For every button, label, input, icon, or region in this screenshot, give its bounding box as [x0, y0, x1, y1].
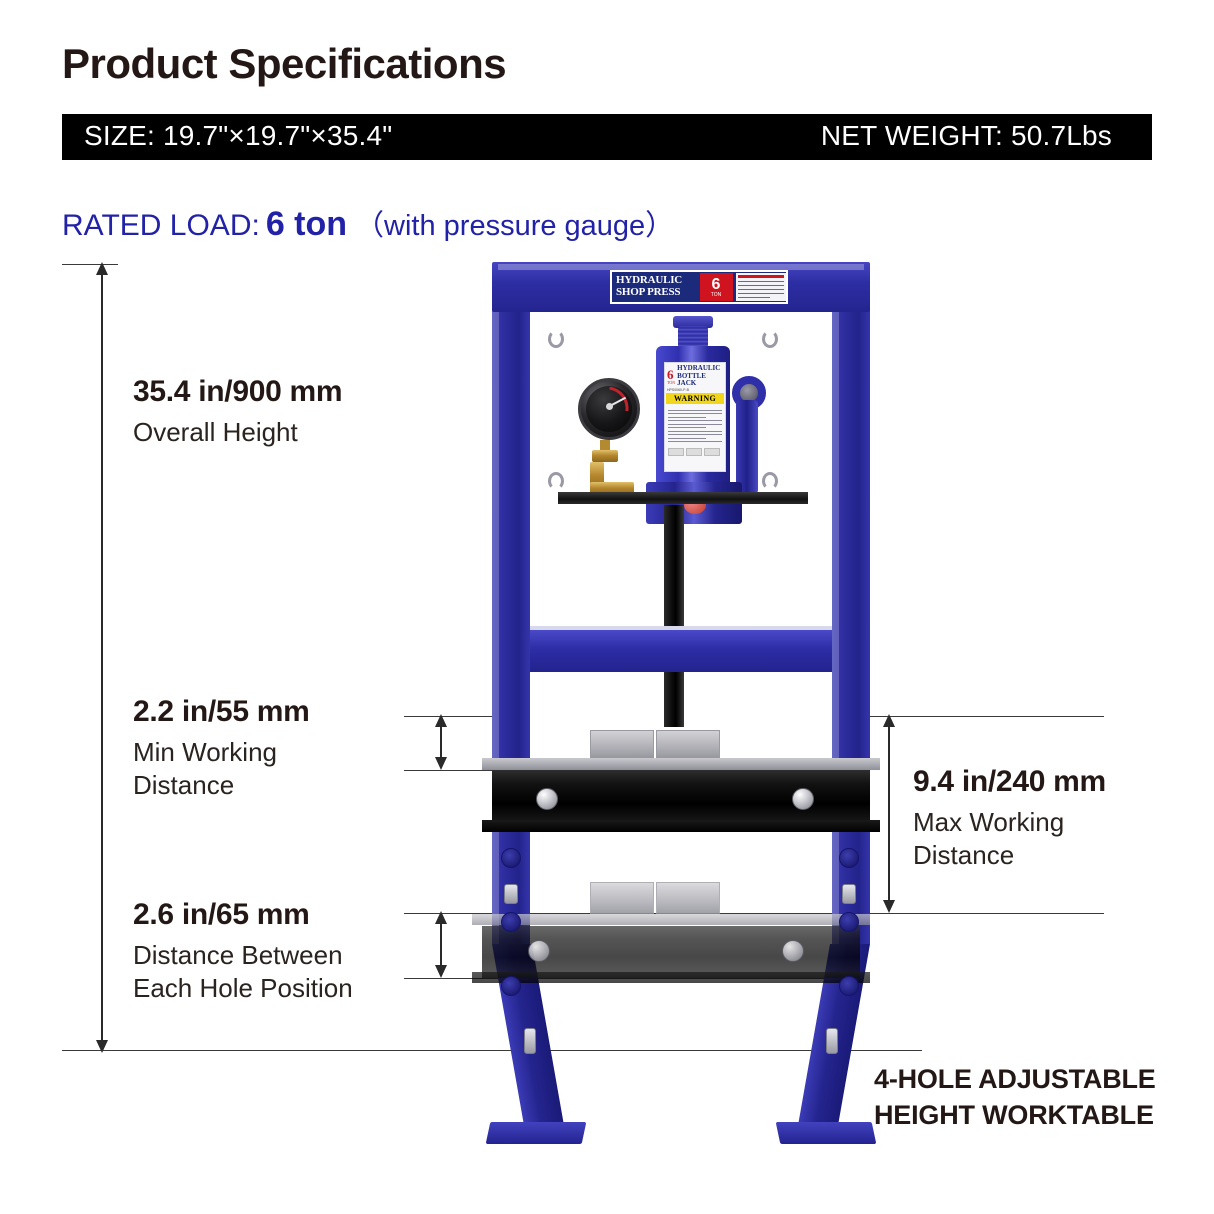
net-weight-label: NET WEIGHT: 50.7Lbs: [821, 120, 1112, 152]
brass-fitting-upper: [592, 450, 618, 462]
worktable-bolt-lower-right: [782, 940, 804, 962]
adjust-hole-left-3: [501, 976, 521, 996]
dimension-min-working-distance: 2.2 in/55 mm Min Working Distance: [133, 695, 310, 802]
jack-mounting-plate: [558, 492, 808, 504]
sticker-tonnage: 6: [712, 277, 721, 293]
return-spring-right: [762, 346, 778, 474]
adjust-hole-right-2: [839, 912, 859, 932]
sticker-text-line: [738, 281, 784, 282]
bottle-jack-label: 6 TON HYDRAULIC BOTTLE JACK HPS0060-P-B …: [664, 362, 726, 472]
overall-height-arrow-up: [96, 262, 108, 275]
dimension-value: 9.4 in/240 mm: [913, 765, 1106, 800]
lower-worktable-bottom-flange: [472, 972, 870, 983]
leg-bolt-left: [524, 1028, 536, 1054]
spring-hook-bottom-icon: [548, 472, 564, 490]
sticker-text-line: [738, 289, 784, 290]
v-block-right-lower: [656, 882, 720, 914]
right-foot: [776, 1122, 877, 1144]
spring-hook-top-icon: [548, 330, 564, 348]
locking-pin-left: [504, 884, 518, 904]
overall-height-arrow-line: [101, 272, 103, 1044]
adjust-hole-left-1: [501, 848, 521, 868]
caption-line-1: Distance Between: [133, 939, 353, 972]
certification-mark-icon: [668, 448, 684, 456]
left-foot: [486, 1122, 587, 1144]
leg-bolt-right: [826, 1028, 838, 1054]
worktable-bolt-upper-left: [536, 788, 558, 810]
ram-rod: [664, 505, 684, 727]
label-text-line: [668, 434, 722, 435]
jack-label-tonnage-unit: TON: [667, 381, 675, 385]
label-text-line: [668, 438, 706, 439]
caption-line-1: Max Working: [913, 806, 1106, 839]
upright-highlight: [832, 308, 839, 944]
v-block-left-lower: [590, 882, 654, 914]
overall-height-ext-top: [62, 264, 118, 265]
label-text-line: [668, 424, 722, 425]
spec-bar: SIZE: 19.7"×19.7"×35.4" NET WEIGHT: 50.7…: [62, 114, 1152, 160]
upright-highlight: [492, 308, 499, 944]
dimension-value: 2.2 in/55 mm: [133, 695, 310, 730]
sticker-tonnage-unit: TON: [711, 293, 721, 298]
sticker-text-line: [738, 285, 784, 286]
page-title: Product Specifications: [62, 40, 506, 88]
dimension-caption: Min Working Distance: [133, 736, 310, 803]
dimension-caption: Overall Height: [133, 416, 342, 449]
caption-line-2: Distance: [133, 769, 310, 802]
sticker-text-line: [738, 293, 784, 294]
dimension-overall-height: 35.4 in/900 mm Overall Height: [133, 375, 342, 449]
jack-label-header: 6 TON HYDRAULIC BOTTLE JACK: [665, 363, 725, 388]
worktable-bolt-upper-right: [792, 788, 814, 810]
upper-worktable-bottom-flange: [482, 820, 880, 832]
product-spec-sheet: Product Specifications SIZE: 19.7"×19.7"…: [0, 0, 1214, 1214]
adjust-hole-right-1: [839, 848, 859, 868]
overall-height-arrow-down: [96, 1040, 108, 1053]
jack-label-model: HPS0060-P-B: [665, 388, 725, 392]
caption-line-2: Distance: [913, 839, 1106, 872]
jack-label-warning-banner: WARNING: [666, 393, 724, 404]
dimension-value: 35.4 in/900 mm: [133, 375, 342, 410]
caption-line-2: Each Hole Position: [133, 972, 353, 1005]
rated-load-value: 6 ton: [260, 205, 347, 243]
jack-label-line-2: BOTTLE JACK: [677, 373, 723, 388]
ce-mark-icon: [686, 448, 702, 456]
sticker-tonnage-badge: 6 TON: [700, 273, 733, 301]
jack-label-name: HYDRAULIC BOTTLE JACK: [677, 365, 723, 388]
press-product-sticker: HYDRAULIC SHOP PRESS 6 TON: [610, 270, 788, 304]
dimension-caption: Distance Between Each Hole Position: [133, 939, 353, 1006]
sticker-text: HYDRAULIC SHOP PRESS: [612, 275, 700, 298]
dimension-hole-spacing: 2.6 in/65 mm Distance Between Each Hole …: [133, 898, 353, 1005]
jack-label-footer-marks: [665, 447, 725, 457]
pump-arm: [736, 400, 758, 494]
rated-load-line: RATED LOAD:6 ton（with pressure gauge）: [62, 202, 674, 244]
return-spring-left: [548, 346, 564, 474]
lower-worktable-top-flange: [472, 914, 870, 925]
upper-worktable-top-flange: [482, 758, 880, 770]
label-text-line: [668, 441, 722, 442]
label-text-line: [668, 427, 706, 428]
label-text-line: [668, 417, 706, 418]
dimension-value: 2.6 in/65 mm: [133, 898, 353, 933]
rated-load-label: RATED LOAD:: [62, 209, 260, 242]
spring-hook-bottom-icon: [762, 472, 778, 490]
label-text-line: [668, 410, 722, 411]
label-text-line: [668, 413, 722, 414]
worktable-bolt-lower-left: [528, 940, 550, 962]
adjust-hole-right-3: [839, 976, 859, 996]
dimension-caption: Max Working Distance: [913, 806, 1106, 873]
jack-label-body-text: [665, 405, 725, 447]
caption-line-1: Min Working: [133, 736, 310, 769]
sticker-line-2: SHOP PRESS: [616, 287, 700, 299]
sticker-text-line: [738, 297, 770, 298]
locking-pin-right: [842, 884, 856, 904]
rated-load-note: （with pressure gauge）: [347, 210, 674, 242]
hazard-mark-icon: [704, 448, 720, 456]
sticker-warning-panel: [736, 273, 786, 301]
label-text-line: [668, 420, 722, 421]
label-text-line: [668, 431, 722, 432]
gauge-hub: [606, 403, 613, 410]
product-illustration-hydraulic-shop-press: HYDRAULIC SHOP PRESS 6 TON: [440, 250, 920, 1160]
adjust-hole-left-2: [501, 912, 521, 932]
size-label: SIZE: 19.7"×19.7"×35.4": [84, 120, 392, 152]
jack-neck: [678, 326, 708, 348]
sticker-warning-bar: [738, 275, 784, 278]
jack-label-tonnage-group: 6 TON: [667, 368, 677, 385]
dimension-max-working-distance: 9.4 in/240 mm Max Working Distance: [913, 765, 1106, 872]
mid-beam: [530, 630, 832, 672]
spring-hook-top-icon: [762, 330, 778, 348]
